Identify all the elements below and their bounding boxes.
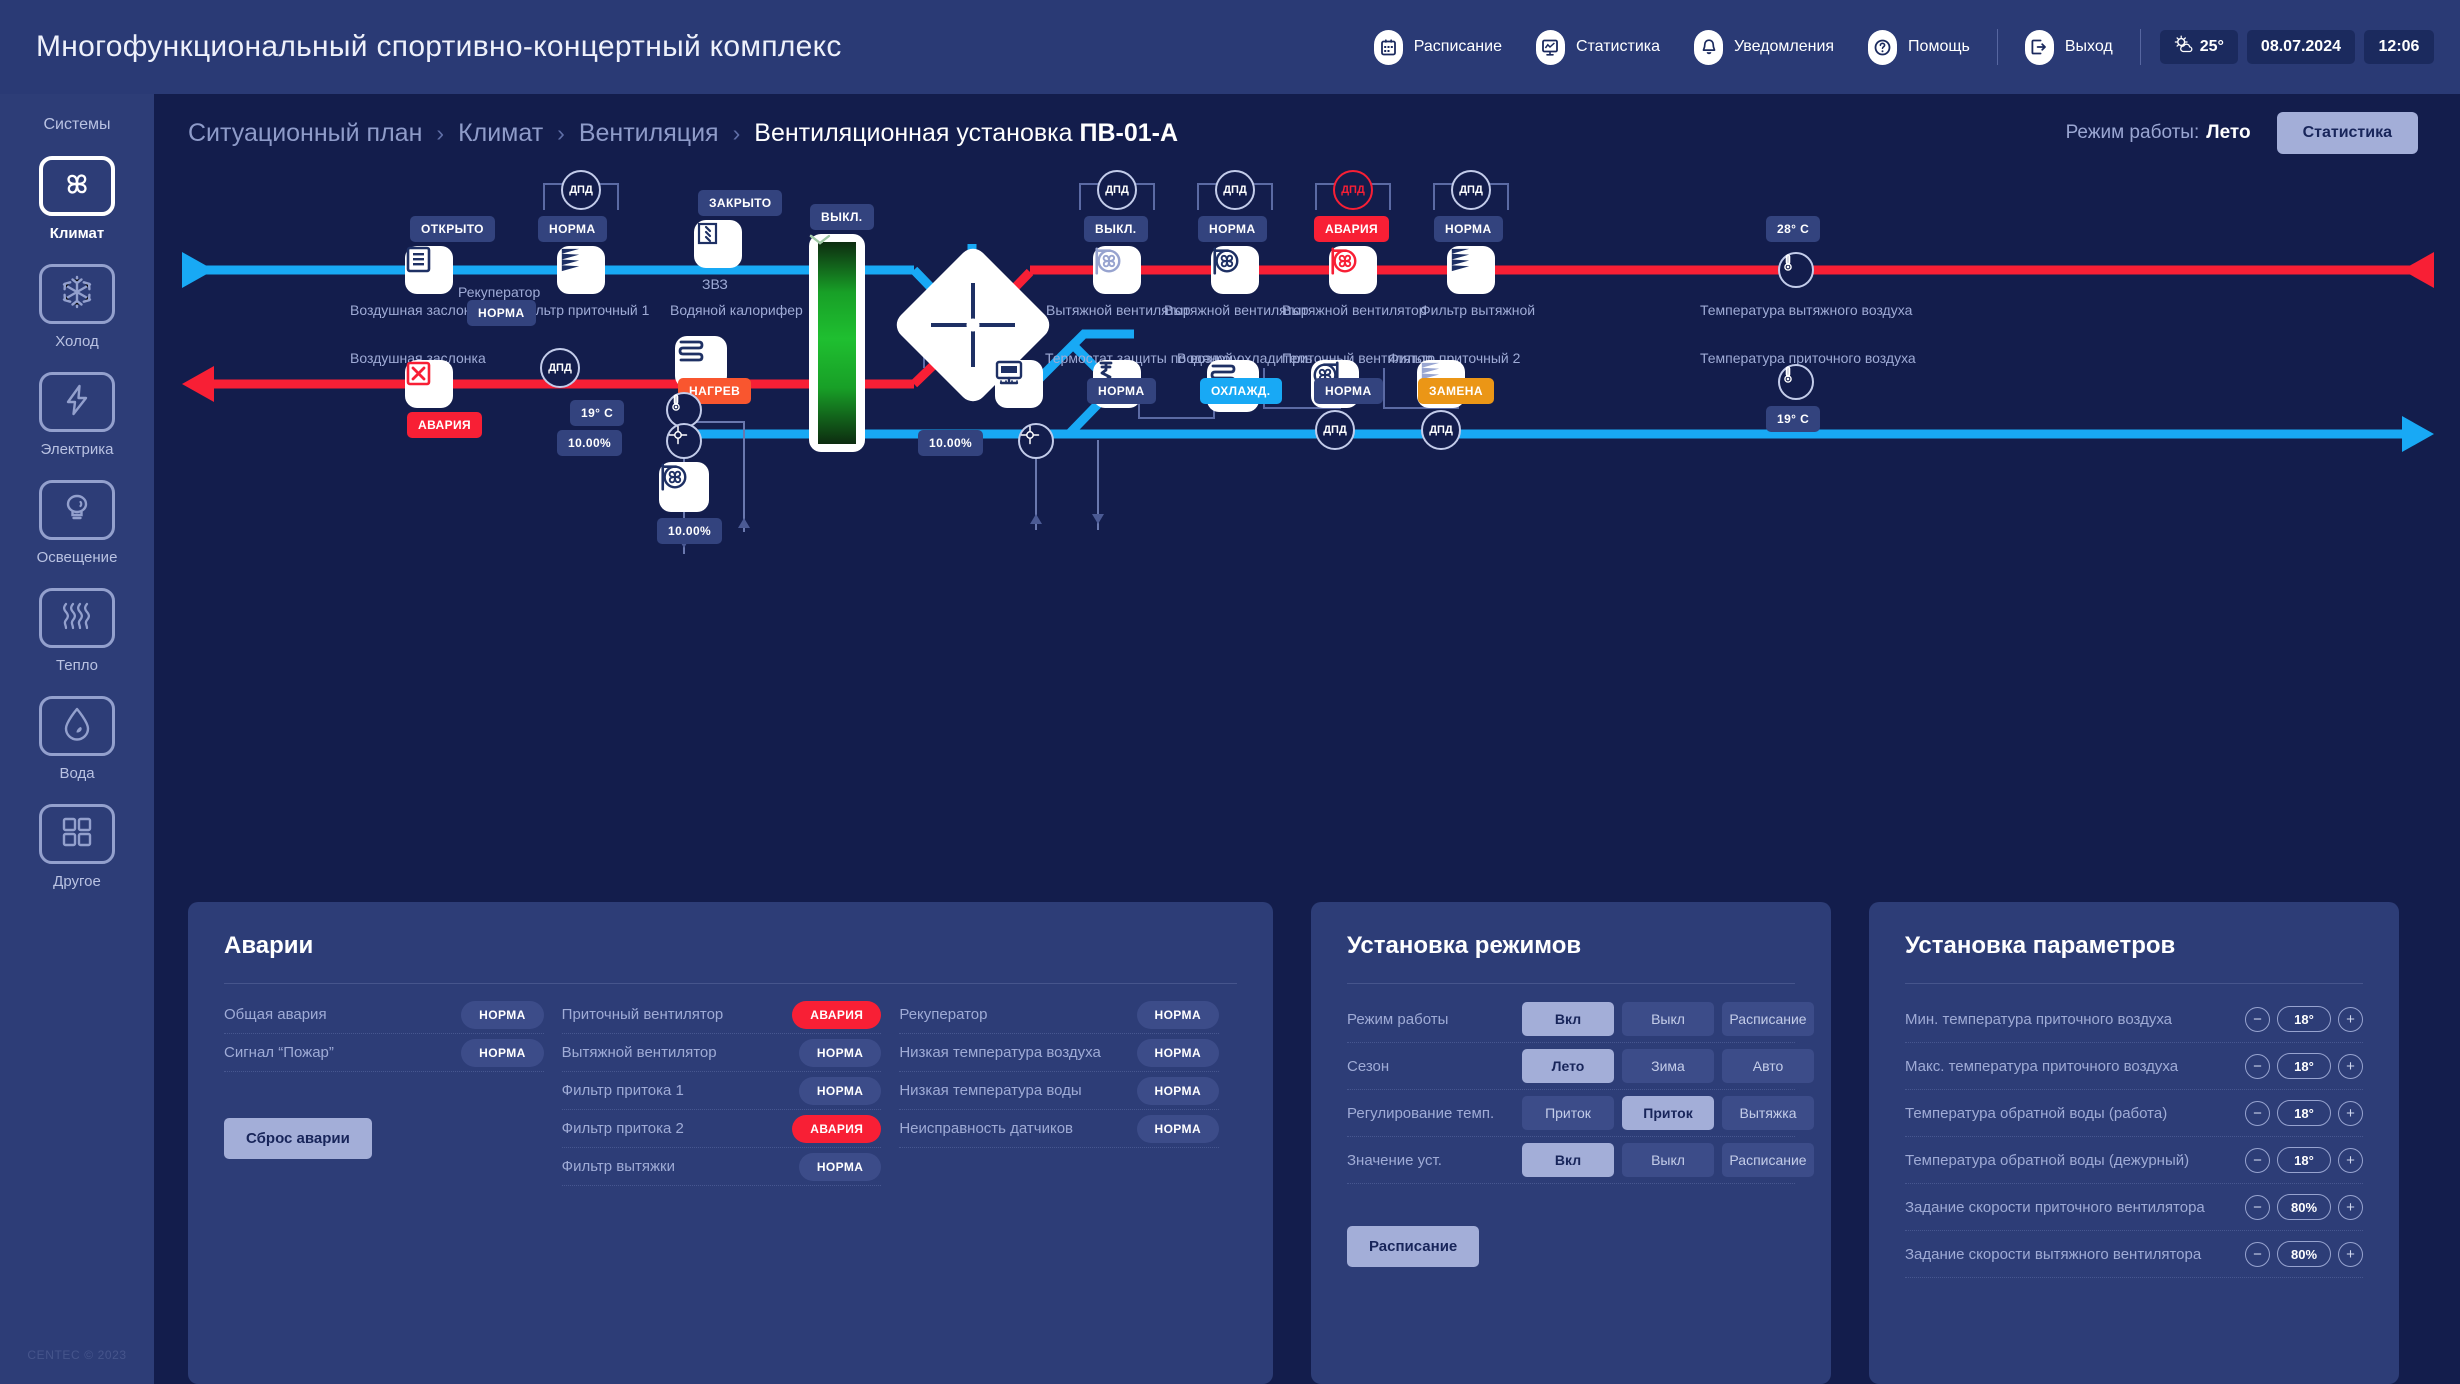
chevron-right-icon: › <box>436 120 444 147</box>
operating-mode-value: Лето <box>2206 122 2250 143</box>
alarms-columns: Общая авария НОРМА Сигнал “Пожар” НОРМА … <box>224 996 1237 1186</box>
sidebar-item-box <box>39 264 115 324</box>
alarm-status-badge: АВАРИЯ <box>792 1115 881 1143</box>
date-chip: 08.07.2024 <box>2247 30 2355 64</box>
alarm-name: Общая авария <box>224 1006 461 1023</box>
water-heater-label: Водяной калорифер <box>670 302 803 318</box>
green-filter-body[interactable] <box>809 234 865 452</box>
params-panel: Установка параметров Мин. температура пр… <box>1869 902 2399 1384</box>
damper-supply-label: Воздушная заслонка <box>350 302 486 318</box>
breadcrumb-right: Режим работы:Лето Статистика <box>2066 112 2418 154</box>
sidebar-item-drugoe[interactable]: Другое <box>0 804 154 890</box>
temp-supply-label: Температура приточного воздуха <box>1700 350 1916 366</box>
alarm-row: Фильтр притока 2 АВАРИЯ <box>562 1110 882 1148</box>
increment-button[interactable]: + <box>2338 1007 2363 1032</box>
modes-footer: Расписание <box>1347 1226 1795 1267</box>
filter-supply-1-dpd-sensor[interactable]: ДПД <box>561 170 601 210</box>
zvz-label: ЗВЗ <box>702 276 728 292</box>
sidebar-item-box <box>39 804 115 864</box>
mode-row-options: Приток Приток Вытяжка <box>1522 1096 1814 1130</box>
water-heater-pump-value: 10.00% <box>657 518 722 544</box>
alarm-status-badge: НОРМА <box>1137 1077 1220 1105</box>
alarm-name: Сигнал “Пожар” <box>224 1044 461 1061</box>
modes-panel: Установка режимов Режим работы Вкл Выкл … <box>1311 902 1831 1384</box>
application-root: Многофункциональный спортивно-концертный… <box>0 0 2460 1384</box>
mode-option[interactable]: Вкл <box>1522 1143 1614 1177</box>
fan-exhaust-3-dpd-sensor[interactable]: ДПД <box>1333 170 1373 210</box>
bolt-icon <box>60 383 94 422</box>
alarm-name: Низкая температура воздуха <box>899 1044 1136 1061</box>
header-item-label: Расписание <box>1414 38 1502 56</box>
increment-button[interactable]: + <box>2338 1054 2363 1079</box>
breadcrumb-bar: Ситуационный план › Климат › Вентиляция … <box>154 94 2460 172</box>
header-item-notifications[interactable]: Уведомления <box>1677 30 1851 65</box>
decrement-button[interactable]: − <box>2245 1242 2270 1267</box>
param-row-return-water-standby: Температура обратной воды (дежурный) − 1… <box>1905 1137 2363 1184</box>
schedule-button[interactable]: Расписание <box>1347 1226 1479 1267</box>
filter-supply-1-label: Фильтр приточный 1 <box>517 302 649 318</box>
param-label: Макс. температура приточного воздуха <box>1905 1058 2245 1075</box>
alarm-status-badge: АВАРИЯ <box>792 1001 881 1029</box>
water-heater-pump-icon[interactable] <box>659 462 709 512</box>
reset-alarm-button[interactable]: Сброс аварии <box>224 1118 372 1159</box>
header-item-help[interactable]: Помощь <box>1851 30 1987 65</box>
filter-exhaust-status: НОРМА <box>1434 216 1503 242</box>
decrement-button[interactable]: − <box>2245 1195 2270 1220</box>
param-label: Мин. температура приточного воздуха <box>1905 1011 2245 1028</box>
sidebar-item-label: Климат <box>50 225 105 242</box>
heat-waves-icon <box>59 600 95 637</box>
increment-button[interactable]: + <box>2338 1195 2363 1220</box>
time-chip: 12:06 <box>2364 30 2434 64</box>
droplet-icon <box>61 706 93 747</box>
mode-option[interactable]: Выкл <box>1622 1002 1714 1036</box>
damper-supply-icon[interactable] <box>405 246 453 294</box>
sidebar-item-label: Вода <box>59 765 94 782</box>
mode-row-options: Лето Зима Авто <box>1522 1049 1814 1083</box>
statistics-button[interactable]: Статистика <box>2277 112 2418 154</box>
sidebar-item-box <box>39 588 115 648</box>
alarm-status-badge: НОРМА <box>1137 1039 1220 1067</box>
alarm-row: Рекуператор НОРМА <box>899 996 1219 1034</box>
mode-row-operating: Режим работы Вкл Выкл Расписание <box>1347 996 1795 1043</box>
operating-mode: Режим работы:Лето <box>2066 122 2251 144</box>
decrement-button[interactable]: − <box>2245 1148 2270 1173</box>
fan-icon <box>58 165 96 208</box>
calendar-icon <box>1374 30 1403 65</box>
mode-option[interactable]: Расписание <box>1722 1143 1814 1177</box>
water-cooler-valve-value: 10.00% <box>918 430 983 456</box>
header-item-label: Помощь <box>1908 38 1970 56</box>
breadcrumb-item-2[interactable]: Вентиляция <box>579 119 719 148</box>
thermometer-icon[interactable] <box>1778 252 1814 288</box>
alarm-status-badge: НОРМА <box>799 1153 882 1181</box>
water-cooler-status: ОХЛАЖД. <box>1200 378 1282 404</box>
header-item-label: Статистика <box>1576 38 1660 56</box>
alarm-name: Вытяжной вентилятор <box>562 1044 799 1061</box>
mode-option[interactable]: Выкл <box>1622 1143 1714 1177</box>
sidebar-item-voda[interactable]: Вода <box>0 696 154 782</box>
app-header: Многофункциональный спортивно-концертный… <box>0 0 2460 94</box>
mode-option[interactable]: Вытяжка <box>1722 1096 1814 1130</box>
mode-option[interactable]: Вкл <box>1522 1002 1614 1036</box>
bell-icon <box>1694 30 1723 65</box>
mode-row-options: Вкл Выкл Расписание <box>1522 1002 1814 1036</box>
mode-row-label: Регулирование темп. <box>1347 1105 1522 1122</box>
page-title-unit: ПВ-01-А <box>1080 119 1179 147</box>
sidebar-title: Системы <box>43 116 110 134</box>
decrement-button[interactable]: − <box>2245 1007 2270 1032</box>
header-item-label: Выход <box>2065 38 2113 56</box>
damper-exhaust-status: АВАРИЯ <box>407 412 482 438</box>
mode-row-setpoint: Значение уст. Вкл Выкл Расписание <box>1347 1137 1795 1184</box>
param-label: Температура обратной воды (работа) <box>1905 1105 2245 1122</box>
sidebar-footer: CENTEC © 2023 <box>27 1348 126 1362</box>
green-filter-indicator <box>818 242 856 444</box>
fan-exhaust-1-status: ВЫКЛ. <box>1084 216 1148 242</box>
sidebar: Системы Климат Холод Элек <box>0 94 154 1384</box>
filter-supply-2-status: ЗАМЕНА <box>1418 378 1494 404</box>
weather-chip: 25° <box>2160 30 2238 64</box>
decrement-button[interactable]: − <box>2245 1101 2270 1126</box>
zvz-status: ЗАКРЫТО <box>698 190 782 216</box>
bulb-icon <box>60 491 94 530</box>
filter-supply-1-icon[interactable] <box>557 246 605 294</box>
header-divider-2 <box>2140 29 2141 65</box>
increment-button[interactable]: + <box>2338 1148 2363 1173</box>
alarm-name: Фильтр притока 1 <box>562 1082 799 1099</box>
fan-exhaust-3-status: АВАРИЯ <box>1314 216 1389 242</box>
param-row-max-supply-temp: Макс. температура приточного воздуха − 1… <box>1905 1043 2363 1090</box>
fan-exhaust-2-status: НОРМА <box>1198 216 1267 242</box>
sidebar-item-box <box>39 372 115 432</box>
damper-exhaust-icon[interactable] <box>405 360 453 408</box>
divider <box>1905 983 2363 984</box>
alarm-row: Вытяжной вентилятор НОРМА <box>562 1034 882 1072</box>
valve-icon[interactable] <box>1018 423 1054 459</box>
param-value: 18° <box>2277 1100 2331 1126</box>
thermometer-icon[interactable] <box>1778 364 1814 400</box>
alarm-row: Фильтр притока 1 НОРМА <box>562 1072 882 1110</box>
fan-exhaust-1-icon[interactable] <box>1093 246 1141 294</box>
mode-option[interactable]: Зима <box>1622 1049 1714 1083</box>
param-label: Задание скорости вытяжного вентилятора <box>1905 1246 2245 1263</box>
temp-supply-value: 19° C <box>1766 406 1820 432</box>
fan-exhaust-3-label: Вытяжной вентилятор <box>1282 302 1427 318</box>
sidebar-item-label: Освещение <box>37 549 118 566</box>
thermostat-controller-icon[interactable] <box>995 360 1043 408</box>
fan-exhaust-2-dpd-sensor[interactable]: ДПД <box>1215 170 1255 210</box>
param-row-exhaust-fan-speed: Задание скорости вытяжного вентилятора −… <box>1905 1231 2363 1278</box>
water-heater-temp-value: 19° C <box>570 400 624 426</box>
alarms-column-2: Приточный вентилятор АВАРИЯ Вытяжной вен… <box>562 996 900 1186</box>
alarm-row: Низкая температура воды НОРМА <box>899 1072 1219 1110</box>
mode-option[interactable]: Лето <box>1522 1049 1614 1083</box>
param-stepper: − 18° + <box>2245 1006 2363 1032</box>
filter-exhaust-dpd-sensor[interactable]: ДПД <box>1451 170 1491 210</box>
damper-supply-status: ОТКРЫТО <box>410 216 495 242</box>
param-value: 18° <box>2277 1053 2331 1079</box>
schematic-pipes <box>154 172 2460 902</box>
param-label: Задание скорости приточного вентилятора <box>1905 1199 2245 1216</box>
params-panel-title: Установка параметров <box>1905 932 2363 960</box>
filter-supply-1-status: НОРМА <box>538 216 607 242</box>
water-heater-valve-value: 10.00% <box>557 430 622 456</box>
param-label: Температура обратной воды (дежурный) <box>1905 1152 2245 1169</box>
mode-option[interactable]: Приток <box>1522 1096 1614 1130</box>
divider <box>224 983 1237 984</box>
sidebar-item-box <box>39 156 115 216</box>
param-value: 80% <box>2277 1241 2331 1267</box>
alarm-name: Фильтр притока 2 <box>562 1120 793 1137</box>
weather-temperature: 25° <box>2200 38 2224 56</box>
header-item-logout[interactable]: Выход <box>2008 30 2130 65</box>
sidebar-item-elektrika[interactable]: Электрика <box>0 372 154 458</box>
param-stepper: − 80% + <box>2245 1241 2363 1267</box>
param-value: 18° <box>2277 1147 2331 1173</box>
temp-exhaust-value: 28° C <box>1766 216 1820 242</box>
decrement-button[interactable]: − <box>2245 1054 2270 1079</box>
question-icon <box>1868 30 1897 65</box>
alarm-name: Неисправность датчиков <box>899 1120 1136 1137</box>
param-row-return-water-work: Температура обратной воды (работа) − 18°… <box>1905 1090 2363 1137</box>
header-item-schedule[interactable]: Расписание <box>1357 30 1519 65</box>
alarm-status-badge: НОРМА <box>1137 1115 1220 1143</box>
sidebar-item-osveshchenie[interactable]: Освещение <box>0 480 154 566</box>
alarms-panel-title: Аварии <box>224 932 1237 960</box>
chart-icon <box>1536 30 1565 65</box>
alarm-row: Общая авария НОРМА <box>224 996 544 1034</box>
sidebar-item-label: Электрика <box>41 441 114 458</box>
alarm-name: Приточный вентилятор <box>562 1006 793 1023</box>
snowflake-icon <box>59 274 95 315</box>
alarm-status-badge: НОРМА <box>799 1039 882 1067</box>
sidebar-item-klimat[interactable]: Климат <box>0 156 154 242</box>
chevron-right-icon: › <box>557 120 565 147</box>
alarm-name: Фильтр вытяжки <box>562 1158 799 1175</box>
sidebar-item-box <box>39 696 115 756</box>
increment-button[interactable]: + <box>2338 1242 2363 1267</box>
sidebar-item-label: Другое <box>53 873 101 890</box>
breadcrumb-item-1[interactable]: Климат <box>458 119 543 148</box>
param-stepper: − 18° + <box>2245 1100 2363 1126</box>
fan-exhaust-2-icon[interactable] <box>1211 246 1259 294</box>
param-stepper: − 80% + <box>2245 1194 2363 1220</box>
alarm-name: Рекуператор <box>899 1006 1136 1023</box>
alarms-column-3: Рекуператор НОРМА Низкая температура воз… <box>899 996 1237 1186</box>
page-title: Вентиляционная установка ПВ-01-А <box>754 119 1178 148</box>
fan-supply-dpd-sensor[interactable]: ДПД <box>1315 410 1355 450</box>
recuperator-dpd-sensor[interactable]: ДПД <box>540 348 580 388</box>
fan-exhaust-3-icon[interactable] <box>1329 246 1377 294</box>
divider <box>1347 983 1795 984</box>
green-filter-status: ВЫКЛ. <box>810 204 874 230</box>
alarm-row: Фильтр вытяжки НОРМА <box>562 1148 882 1186</box>
mode-row-label: Режим работы <box>1347 1011 1522 1028</box>
alarms-column-1: Общая авария НОРМА Сигнал “Пожар” НОРМА … <box>224 996 562 1186</box>
header-divider-1 <box>1997 29 1998 65</box>
alarm-row: Неисправность датчиков НОРМА <box>899 1110 1219 1148</box>
sidebar-item-kholod[interactable]: Холод <box>0 264 154 350</box>
mode-row-label: Значение уст. <box>1347 1152 1522 1169</box>
fan-supply-status: НОРМА <box>1314 378 1383 404</box>
param-stepper: − 18° + <box>2245 1053 2363 1079</box>
grid-icon <box>60 815 94 854</box>
fan-exhaust-1-dpd-sensor[interactable]: ДПД <box>1097 170 1137 210</box>
temp-exhaust-label: Температура вытяжного воздуха <box>1700 302 1912 318</box>
mode-option[interactable]: Авто <box>1722 1049 1814 1083</box>
param-row-supply-fan-speed: Задание скорости приточного вентилятора … <box>1905 1184 2363 1231</box>
param-value: 80% <box>2277 1194 2331 1220</box>
filter-exhaust-label: Фильтр вытяжной <box>1420 302 1535 318</box>
ventilation-schematic: ОТКРЫТО Воздушная заслонка ДПД НОРМА Фил… <box>154 172 2460 902</box>
header-item-statistics[interactable]: Статистика <box>1519 30 1677 65</box>
alarm-status-badge: НОРМА <box>461 1039 544 1067</box>
alarm-status-badge: НОРМА <box>461 1001 544 1029</box>
param-stepper: − 18° + <box>2245 1147 2363 1173</box>
sidebar-item-label: Тепло <box>56 657 98 674</box>
alarm-row: Низкая температура воздуха НОРМА <box>899 1034 1219 1072</box>
mode-row-options: Вкл Выкл Расписание <box>1522 1143 1814 1177</box>
filter-exhaust-icon[interactable] <box>1447 246 1495 294</box>
mode-option[interactable]: Расписание <box>1722 1002 1814 1036</box>
page-title-prefix: Вентиляционная установка <box>754 119 1079 147</box>
sidebar-item-teplo[interactable]: Тепло <box>0 588 154 674</box>
zvz-icon[interactable] <box>694 220 742 268</box>
mode-row-season: Сезон Лето Зима Авто <box>1347 1043 1795 1090</box>
sidebar-item-box <box>39 480 115 540</box>
header-item-label: Уведомления <box>1734 38 1834 56</box>
alarm-name: Низкая температура воды <box>899 1082 1136 1099</box>
sidebar-item-label: Холод <box>55 333 99 350</box>
alarm-status-badge: НОРМА <box>799 1077 882 1105</box>
recuperator-status: НОРМА <box>467 300 536 326</box>
thermostat-status: НОРМА <box>1087 378 1156 404</box>
mode-row-label: Сезон <box>1347 1058 1522 1075</box>
modes-panel-title: Установка режимов <box>1347 932 1795 960</box>
app-title: Многофункциональный спортивно-концертный… <box>36 30 842 64</box>
param-value: 18° <box>2277 1006 2331 1032</box>
header-actions: Расписание Статистика Уведомления Помощь <box>1357 0 2460 94</box>
mode-option[interactable]: Приток <box>1622 1096 1714 1130</box>
breadcrumb-item-0[interactable]: Ситуационный план <box>188 119 422 148</box>
alarm-row: Приточный вентилятор АВАРИЯ <box>562 996 882 1034</box>
recuperator-label: Рекуператор <box>458 284 540 300</box>
alarm-row: Сигнал “Пожар” НОРМА <box>224 1034 544 1072</box>
chevron-right-icon: › <box>733 120 741 147</box>
alarms-panel: Аварии Общая авария НОРМА Сигнал “Пожар”… <box>188 902 1273 1384</box>
valve-icon[interactable] <box>666 423 702 459</box>
operating-mode-label: Режим работы: <box>2066 122 2200 143</box>
bottom-panels: Аварии Общая авария НОРМА Сигнал “Пожар”… <box>154 902 2460 1384</box>
mode-row-temp-regulation: Регулирование темп. Приток Приток Вытяжк… <box>1347 1090 1795 1137</box>
increment-button[interactable]: + <box>2338 1101 2363 1126</box>
logout-icon <box>2025 30 2054 65</box>
filter-supply-2-dpd-sensor[interactable]: ДПД <box>1421 410 1461 450</box>
param-row-min-supply-temp: Мин. температура приточного воздуха − 18… <box>1905 996 2363 1043</box>
weather-icon <box>2174 35 2193 59</box>
alarm-status-badge: НОРМА <box>1137 1001 1220 1029</box>
reset-wrap: Сброс аварии <box>224 1118 544 1159</box>
